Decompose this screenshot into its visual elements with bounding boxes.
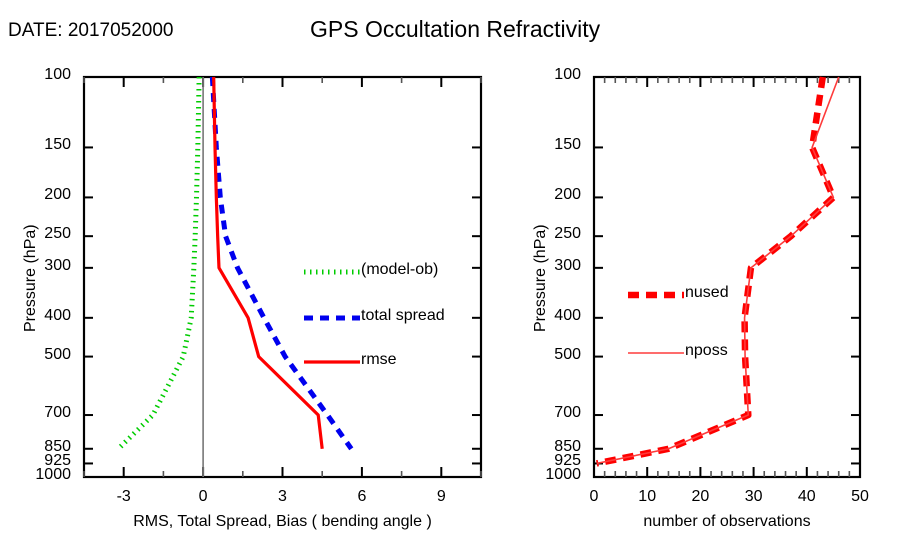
right-legend-label-nposs: nposs <box>685 342 728 360</box>
right-y-axis-title: Pressure (hPa) <box>532 224 550 332</box>
plot-canvas <box>0 0 900 560</box>
left-series--model-ob- <box>118 77 199 449</box>
right-x-axis-title: number of observations <box>643 513 810 531</box>
left-ytick-label: 700 <box>44 404 71 422</box>
left-xtick-label: -3 <box>117 488 131 506</box>
left-ytick-label: 100 <box>44 66 71 84</box>
left-xtick-label: 9 <box>437 488 446 506</box>
left-x-axis-title: RMS, Total Spread, Bias ( bending angle … <box>133 513 432 531</box>
right-xtick-label: 40 <box>798 488 816 506</box>
right-xtick-label: 50 <box>851 488 869 506</box>
right-series-nused <box>597 77 834 463</box>
left-series-total-spread <box>212 77 351 449</box>
left-ytick-label: 200 <box>44 186 71 204</box>
right-xtick-label: 0 <box>590 488 599 506</box>
right-ytick-label: 250 <box>554 225 581 243</box>
right-xtick-label: 30 <box>745 488 763 506</box>
left-legend-label-rmse: rmse <box>361 351 397 369</box>
left-legend-label-model-ob: (model-ob) <box>361 261 438 279</box>
left-xtick-label: 0 <box>199 488 208 506</box>
figure-root: DATE: 2017052000 GPS Occultation Refract… <box>0 0 900 560</box>
right-xtick-label: 10 <box>638 488 656 506</box>
right-series-nposs <box>597 77 839 463</box>
left-y-axis-title: Pressure (hPa) <box>22 224 40 332</box>
right-ytick-label: 100 <box>554 66 581 84</box>
left-ytick-label: 150 <box>44 136 71 154</box>
right-legend-label-nused: nused <box>685 284 729 302</box>
right-ytick-label: 700 <box>554 404 581 422</box>
left-xtick-label: 3 <box>278 488 287 506</box>
right-xtick-label: 20 <box>691 488 709 506</box>
left-legend-label-total-spread: total spread <box>361 307 445 325</box>
right-ytick-label: 400 <box>554 307 581 325</box>
right-ytick-label: 300 <box>554 257 581 275</box>
left-ytick-label: 400 <box>44 307 71 325</box>
right-ytick-label: 500 <box>554 346 581 364</box>
left-ytick-label: 1000 <box>35 466 71 484</box>
left-ytick-label: 500 <box>44 346 71 364</box>
left-ytick-label: 300 <box>44 257 71 275</box>
left-xtick-label: 6 <box>357 488 366 506</box>
left-ytick-label: 250 <box>44 225 71 243</box>
right-plot-frame <box>594 77 860 477</box>
right-ytick-label: 1000 <box>545 466 581 484</box>
left-series-rmse <box>214 77 323 449</box>
right-ytick-label: 150 <box>554 136 581 154</box>
right-ytick-label: 200 <box>554 186 581 204</box>
